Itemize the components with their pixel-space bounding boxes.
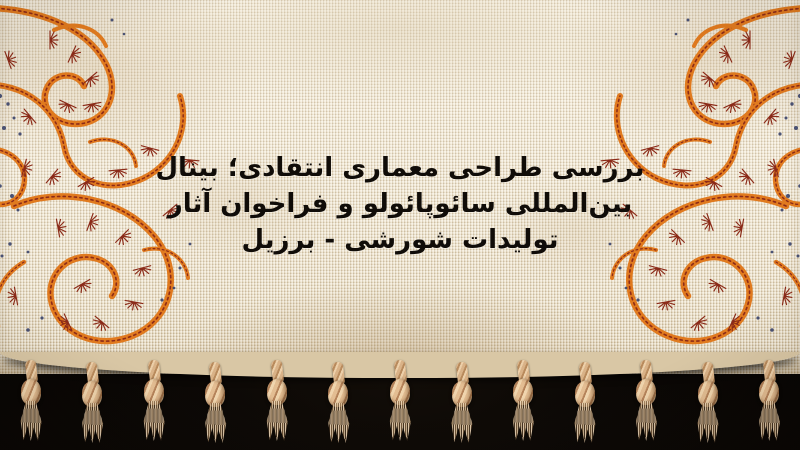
tassel-skirt	[508, 401, 538, 441]
tassel	[5, 360, 57, 450]
title-line-1: بررسی طراحی معماری انتقادی؛ بینال	[0, 150, 800, 186]
tassel	[66, 362, 118, 450]
tassel	[128, 360, 180, 450]
tassel	[374, 360, 426, 450]
tassel	[743, 360, 795, 450]
tassel-fringe	[0, 360, 800, 450]
tassel-skirt	[570, 403, 600, 443]
tassel-skirt	[200, 403, 230, 443]
tassel-skirt	[139, 401, 169, 441]
title-line-2: بین‌المللی سائوپائولو و فراخوان آثار	[0, 186, 800, 222]
tassel-skirt	[447, 403, 477, 443]
tassel-skirt	[262, 401, 292, 441]
tassel-skirt	[16, 401, 46, 441]
tassel	[559, 362, 611, 450]
tassel	[620, 360, 672, 450]
tassel-skirt	[693, 403, 723, 443]
tassel	[497, 360, 549, 450]
tassel-skirt	[323, 403, 353, 443]
slide-canvas: بررسی طراحی معماری انتقادی؛ بینال بین‌ال…	[0, 0, 800, 450]
tassel	[251, 360, 303, 450]
tassel-skirt	[754, 401, 784, 441]
tassel	[436, 362, 488, 450]
tassel	[189, 362, 241, 450]
tassel	[312, 362, 364, 450]
tassel-skirt	[385, 401, 415, 441]
tassel-skirt	[77, 403, 107, 443]
tassel-skirt	[631, 401, 661, 441]
slide-title: بررسی طراحی معماری انتقادی؛ بینال بین‌ال…	[0, 150, 800, 258]
title-line-3: تولیدات شورشی - برزیل	[0, 222, 800, 258]
tassel	[682, 362, 734, 450]
